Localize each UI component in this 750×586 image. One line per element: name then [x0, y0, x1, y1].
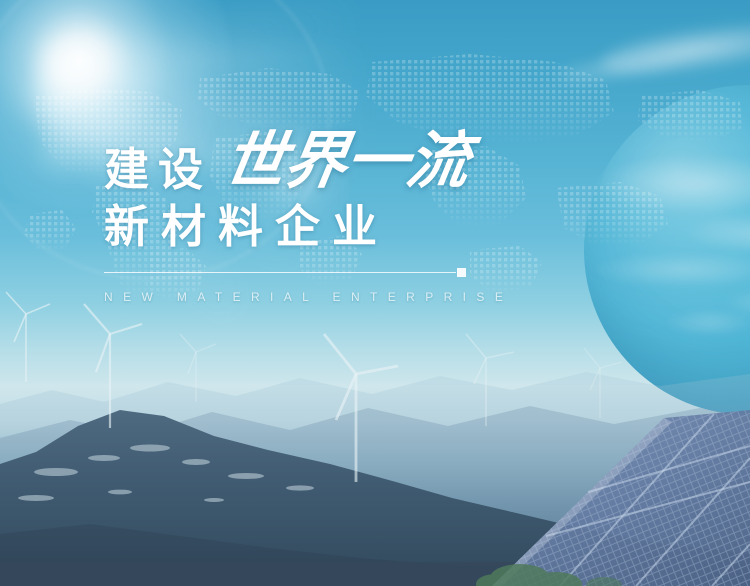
- wind-turbine-icon: [6, 292, 50, 382]
- divider-end-square-icon: [457, 268, 466, 277]
- headline-prefix: 建设: [104, 147, 212, 192]
- headline-subtitle: NEW MATERIAL ENTERPRISE: [104, 290, 524, 304]
- headline-block: 建设 世界一流 新材料企业 NEW MATERIAL ENTERPRISE: [104, 133, 524, 304]
- landscape-scene: [0, 286, 750, 586]
- headline-line-2: 新材料企业: [104, 204, 524, 249]
- headline-emphasis: 世界一流: [219, 133, 472, 192]
- hero-banner: 建设 世界一流 新材料企业 NEW MATERIAL ENTERPRISE: [0, 0, 750, 586]
- divider-line: [104, 272, 456, 274]
- headline-line-1: 建设 世界一流: [104, 133, 524, 192]
- headline-divider: [104, 271, 470, 274]
